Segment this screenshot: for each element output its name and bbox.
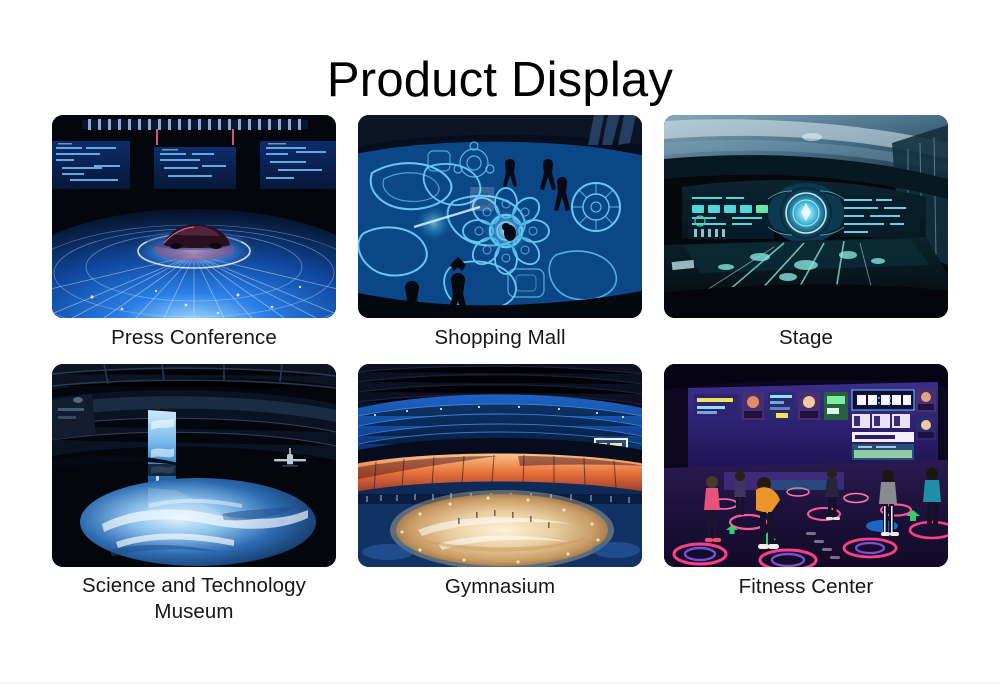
- gallery-item-stage[interactable]: Stage: [664, 115, 948, 351]
- gymnasium-illustration: [358, 364, 642, 567]
- shopping-mall-illustration: [358, 115, 642, 318]
- museum-illustration: [52, 364, 336, 567]
- product-display-page: Product Display: [0, 0, 1000, 684]
- thumbnail-fitness-center[interactable]: [664, 364, 948, 567]
- gallery-item-caption: Science and Technology Museum: [52, 573, 336, 625]
- stage-illustration: [664, 115, 948, 318]
- product-gallery-grid: Press Conference: [52, 115, 948, 625]
- gallery-item-caption: Shopping Mall: [358, 324, 642, 351]
- thumbnail-shopping-mall[interactable]: [358, 115, 642, 318]
- thumbnail-gymnasium[interactable]: [358, 364, 642, 567]
- thumbnail-science-technology-museum[interactable]: [52, 364, 336, 567]
- gallery-item-caption: Press Conference: [52, 324, 336, 351]
- thumbnail-stage[interactable]: [664, 115, 948, 318]
- fitness-center-illustration: [664, 364, 948, 567]
- gallery-item-caption: Gymnasium: [358, 573, 642, 600]
- thumbnail-press-conference[interactable]: [52, 115, 336, 318]
- press-conference-illustration: [52, 115, 336, 318]
- gallery-item-press-conference[interactable]: Press Conference: [52, 115, 336, 351]
- gallery-item-caption: Stage: [664, 324, 948, 351]
- gallery-item-gymnasium[interactable]: Gymnasium: [358, 364, 642, 625]
- gallery-item-science-technology-museum[interactable]: Science and Technology Museum: [52, 364, 336, 625]
- gallery-item-fitness-center[interactable]: Fitness Center: [664, 364, 948, 625]
- gallery-item-shopping-mall[interactable]: Shopping Mall: [358, 115, 642, 351]
- gallery-item-caption: Fitness Center: [664, 573, 948, 600]
- page-title: Product Display: [0, 47, 1000, 113]
